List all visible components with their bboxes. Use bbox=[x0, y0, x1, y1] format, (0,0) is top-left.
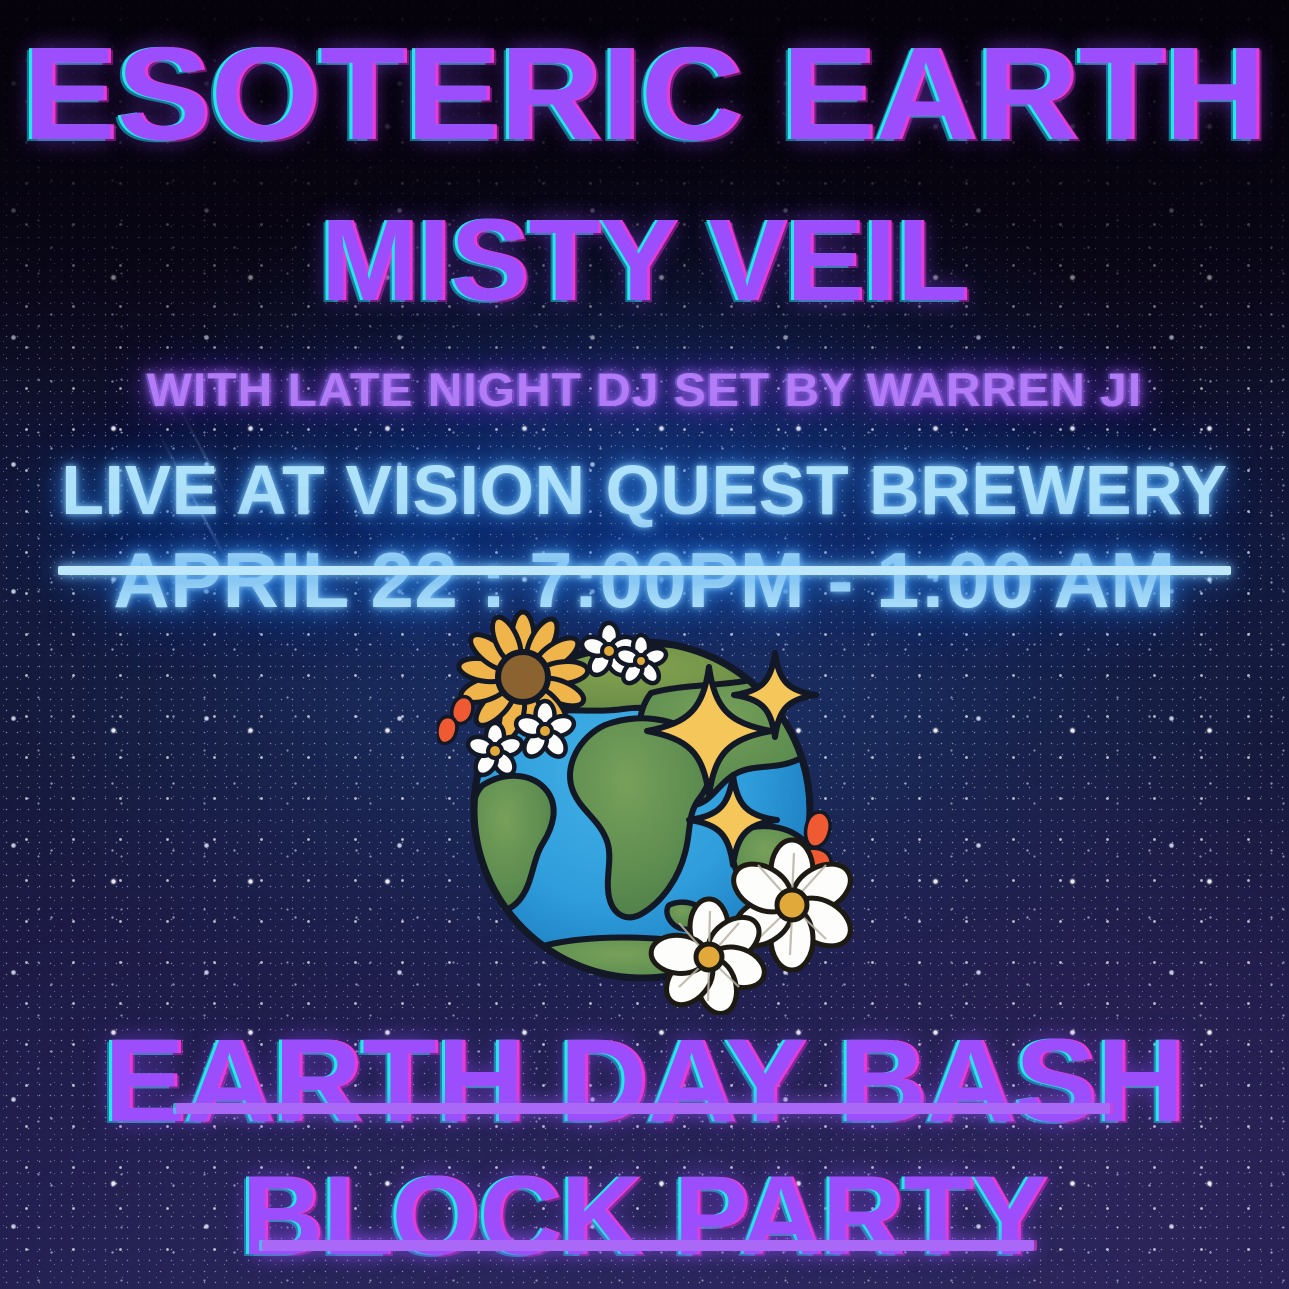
event-poster: ESOTERIC EARTH MISTY VEIL WITH LATE NIGH… bbox=[0, 0, 1289, 1289]
date-underline bbox=[58, 566, 1231, 575]
event-title-line-1: EARTH DAY BASH bbox=[0, 1022, 1289, 1140]
event-title-line-2: BLOCK PARTY bbox=[0, 1160, 1289, 1272]
event-title-underline-2 bbox=[262, 1240, 1034, 1251]
earth-globe-illustration bbox=[437, 605, 867, 1015]
venue-line: LIVE AT VISION QUEST BREWERY bbox=[0, 455, 1289, 525]
headline-line-2: MISTY VEIL bbox=[0, 202, 1289, 318]
accent-petal-icon-group-left bbox=[437, 697, 473, 744]
event-title-underline-1 bbox=[176, 1103, 1110, 1114]
dj-support-line: WITH LATE NIGHT DJ SET BY WARREN JI bbox=[0, 366, 1289, 413]
headline-line-1: ESOTERIC EARTH bbox=[0, 28, 1289, 160]
